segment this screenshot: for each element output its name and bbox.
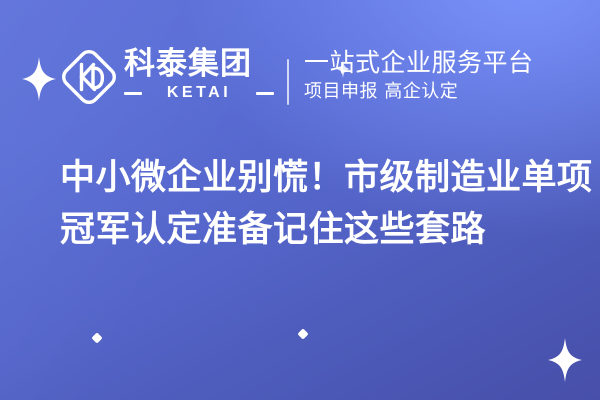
brand-name-cn: 科泰集团 [124, 47, 276, 81]
brand-name-en-row: KETAI [124, 84, 274, 102]
tagline-block: 一站式企业服务平台 项目申报 高企认定 [304, 48, 594, 103]
brand-name-en: KETAI [142, 84, 256, 102]
ketai-logo-icon [58, 46, 120, 108]
banner-root: 科泰集团 KETAI 一站式企业服务平台 项目申报 高企认定 中小微企业别慌！市… [0, 0, 600, 400]
tagline-main: 一站式企业服务平台 [304, 48, 594, 78]
tagline-sub: 项目申报 高企认定 [304, 81, 594, 103]
decoration-diamond-dot-1 [91, 332, 102, 343]
headline-line-1: 中小微企业别慌！市级制造业单项 [60, 152, 560, 204]
headline: 中小微企业别慌！市级制造业单项 冠军认定准备记住这些套路 [60, 152, 560, 256]
brand-rule-right [256, 92, 274, 95]
header-divider [287, 59, 289, 105]
brand-rule-left [124, 92, 142, 95]
sparkle-star-icon [22, 57, 56, 101]
headline-line-2: 冠军认定准备记住这些套路 [60, 204, 560, 256]
decoration-sparkle-star-icon [548, 338, 582, 382]
decoration-diamond-dot-2 [297, 328, 308, 339]
banner-header: 科泰集团 KETAI 一站式企业服务平台 项目申报 高企认定 [0, 40, 600, 118]
brand-block: 科泰集团 KETAI [124, 47, 276, 109]
